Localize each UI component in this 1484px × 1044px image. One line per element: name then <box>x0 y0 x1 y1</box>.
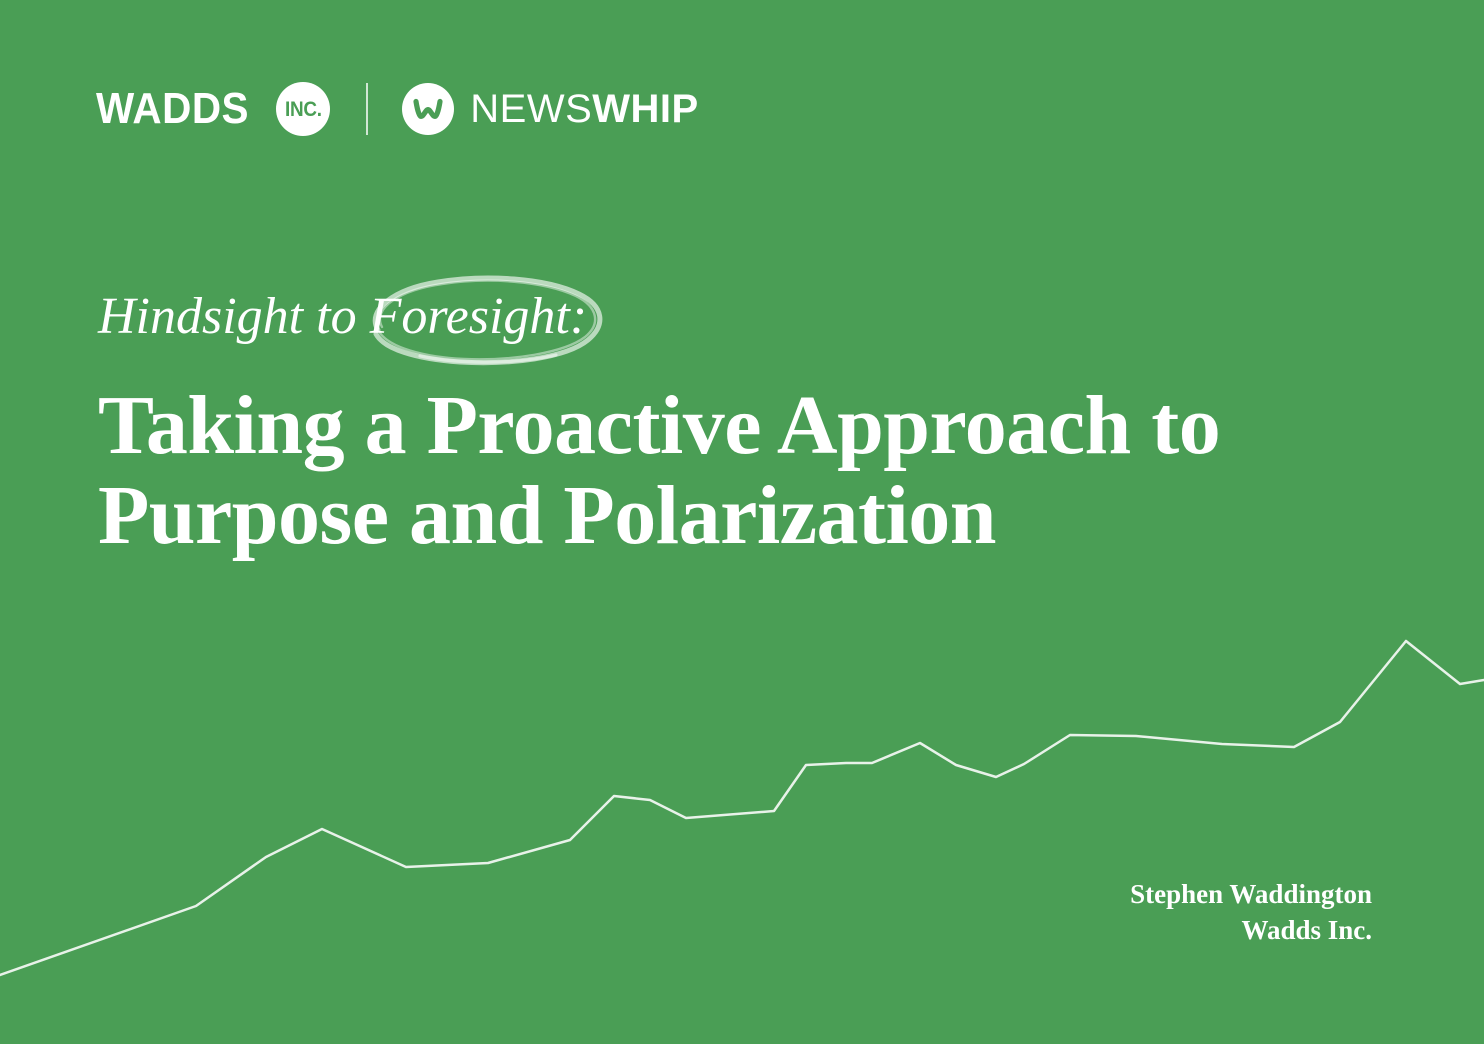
newswhip-logo[interactable]: NEWSWHIP <box>402 83 698 135</box>
page-title-line-2: Purpose and Polarization <box>98 471 1318 562</box>
newswhip-w-circle-icon <box>402 83 454 135</box>
author-block: Stephen Waddington Wadds Inc. <box>1130 876 1372 948</box>
logo-bar: WADDS INC. NEWSWHIP <box>96 78 699 140</box>
page-title-line-1: Taking a Proactive Approach to <box>98 381 1318 472</box>
inc-circle-badge: INC. <box>276 82 330 136</box>
newswhip-word-whip: WHIP <box>592 87 698 131</box>
wadds-wordmark: WADDS <box>96 87 249 131</box>
newswhip-word-news: NEWS <box>470 87 592 131</box>
eyebrow-text: Hindsight to Foresight: <box>98 290 587 345</box>
author-company: Wadds Inc. <box>1130 912 1372 948</box>
inc-badge-label: INC. <box>285 99 322 120</box>
cover-page: WADDS INC. NEWSWHIP <box>0 0 1484 1044</box>
eyebrow-wrapper: Hindsight to Foresight: <box>98 286 647 355</box>
author-name: Stephen Waddington <box>1130 876 1372 912</box>
title-block: Hindsight to Foresight: Taking a Proacti… <box>98 286 1318 618</box>
page-title: Taking a Proactive Approach to Purpose a… <box>98 381 1318 562</box>
wadds-logo[interactable]: WADDS INC. <box>96 82 330 136</box>
newswhip-wordmark: NEWSWHIP <box>470 89 698 129</box>
vertical-divider <box>366 83 368 135</box>
